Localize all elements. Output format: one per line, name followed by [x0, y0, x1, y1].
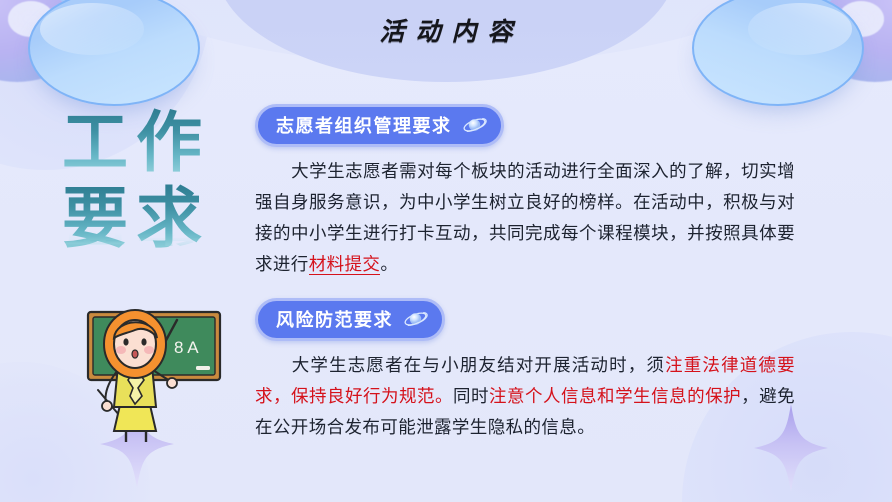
big-heading-reflection: 要求: [62, 232, 242, 248]
section-risk-prevention: 风险防范要求 大学生志愿者在与小朋友结对开展活动时，须注重法律道德要求，保持良好…: [255, 298, 795, 443]
section-volunteer-management: 志愿者组织管理要求: [255, 104, 795, 280]
paragraph-run-text: 同时: [453, 386, 489, 406]
paragraph-run-highlight: 材料提交: [309, 254, 381, 275]
blackboard-text: 8 A: [174, 338, 199, 357]
saturn-planet-icon: [462, 114, 487, 136]
teacher-at-blackboard-illustration: 8 A: [78, 300, 258, 485]
slide-root: 活动内容 工作 要求 要求 8 A: [0, 0, 892, 502]
saturn-planet-icon: [403, 308, 428, 330]
section-badge-1[interactable]: 志愿者组织管理要求: [255, 104, 504, 147]
paragraph-run-text: 。: [380, 254, 398, 274]
section-badge-2[interactable]: 风险防范要求: [255, 298, 445, 341]
paragraph-run-highlight: 注意个人信息和学生信息的保护: [489, 386, 741, 406]
section-paragraph-1: 大学生志愿者需对每个板块的活动进行全面深入的了解，切实增强自身服务意识，为中小学…: [255, 156, 795, 280]
big-heading: 工作 要求 要求: [62, 104, 242, 282]
section-badge-1-label: 志愿者组织管理要求: [276, 112, 452, 138]
section-paragraph-2: 大学生志愿者在与小朋友结对开展活动时，须注重法律道德要求，保持良好行为规范。同时…: [255, 350, 795, 443]
paragraph-run-text: 大学生志愿者在与小朋友结对开展活动时，须: [291, 355, 665, 375]
page-title: 活动内容: [0, 12, 892, 48]
content-column: 志愿者组织管理要求: [255, 104, 795, 460]
big-heading-line-1: 工作: [62, 104, 242, 180]
section-badge-2-label: 风险防范要求: [276, 306, 393, 332]
